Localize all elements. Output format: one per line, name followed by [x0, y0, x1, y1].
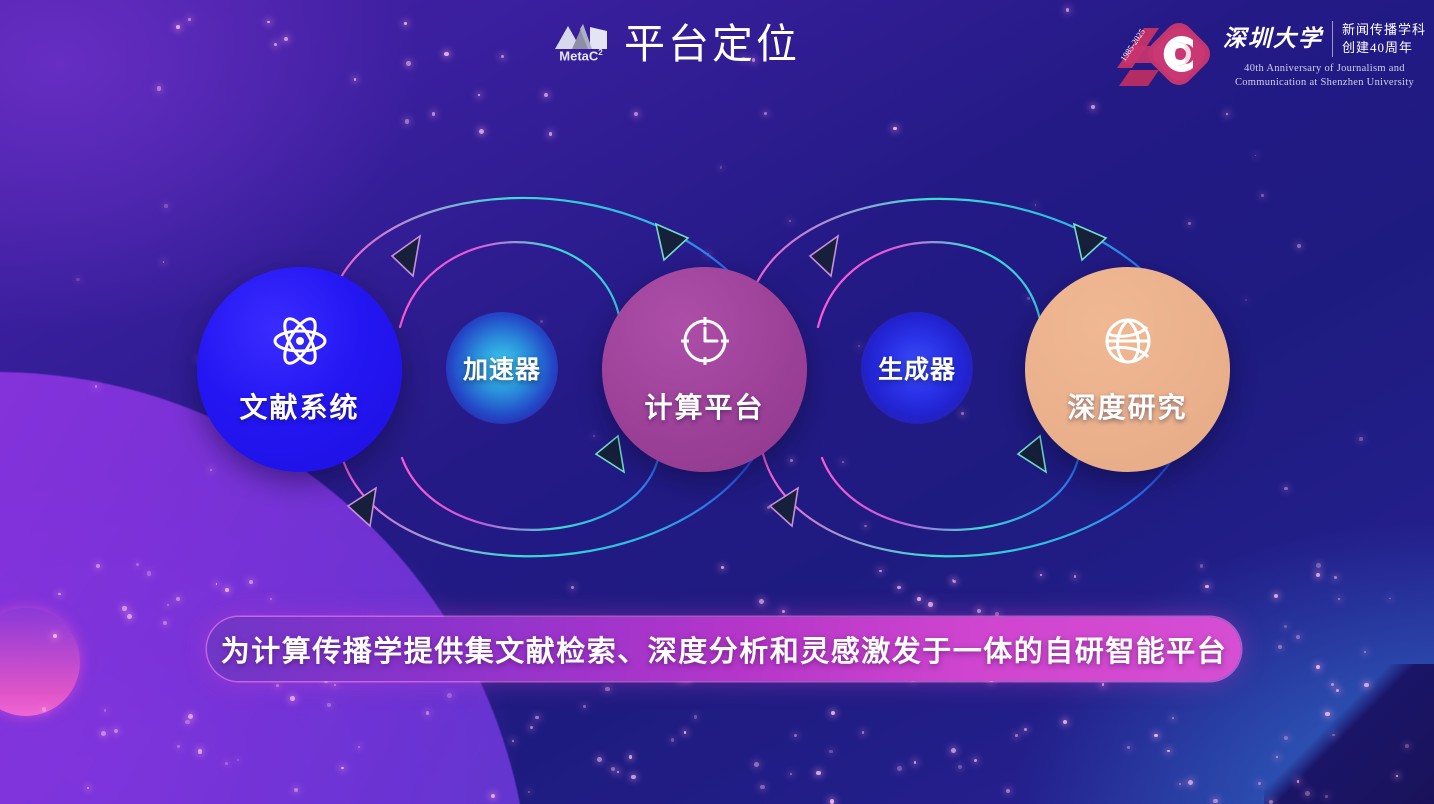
- star-dot: [53, 634, 57, 638]
- star-dot: [426, 711, 430, 715]
- node-accelerator[interactable]: 加速器: [446, 312, 558, 424]
- arrowhead-icon: [392, 236, 420, 276]
- atom-icon: [272, 313, 328, 374]
- star-dot: [671, 738, 675, 742]
- star-dot: [914, 761, 916, 763]
- star-dot: [1284, 736, 1288, 740]
- flow-diagram: 文献系统 加速器: [0, 120, 1434, 590]
- star-dot: [1063, 720, 1067, 724]
- star-dot: [1405, 744, 1409, 748]
- star-dot: [1364, 683, 1369, 688]
- star-dot: [830, 799, 835, 804]
- star-dot: [58, 593, 61, 596]
- star-dot: [1305, 791, 1310, 796]
- star-dot: [1167, 750, 1170, 753]
- star-dot: [977, 609, 981, 613]
- star-dot: [794, 734, 797, 737]
- university-en-line-1: 40th Anniversary of Journalism and: [1223, 62, 1426, 76]
- university-en-line-2: Communication at Shenzhen University: [1223, 76, 1426, 90]
- slide-canvas: MetaC2 平台定位: [0, 0, 1434, 804]
- page-title: 平台定位: [624, 24, 800, 69]
- star-dot: [1274, 594, 1278, 598]
- star-dot: [631, 775, 636, 780]
- star-dot: [101, 731, 106, 736]
- star-dot: [831, 711, 835, 715]
- star-dot: [782, 610, 786, 614]
- star-dot: [611, 767, 615, 771]
- star-dot: [535, 716, 539, 720]
- metac-wordmark: MetaC2: [552, 49, 610, 62]
- tagline-text: 为计算传播学提供集文献检索、深度分析和灵感激发于一体的自研智能平台: [221, 628, 1228, 670]
- star-dot: [1364, 651, 1367, 654]
- tagline-banner: 为计算传播学提供集文献检索、深度分析和灵感激发于一体的自研智能平台: [207, 617, 1241, 681]
- star-dot: [341, 767, 344, 770]
- pink-circle-shape: [0, 608, 80, 716]
- star-dot: [951, 748, 956, 753]
- title-group: MetaC2 平台定位: [552, 20, 800, 72]
- star-dot: [270, 598, 273, 601]
- arrowhead-icon: [810, 236, 838, 276]
- node-deep-research[interactable]: 深度研究: [1025, 267, 1230, 472]
- star-dot: [629, 755, 633, 759]
- star-dot: [1332, 734, 1335, 737]
- star-dot: [1284, 625, 1287, 628]
- star-dot: [294, 788, 298, 792]
- node-generator[interactable]: 生成器: [861, 312, 973, 424]
- anniversary-badge: 1985-2025: [1111, 16, 1215, 94]
- star-dot: [185, 720, 190, 725]
- star-dot: [605, 687, 609, 691]
- star-dot: [177, 745, 180, 748]
- star-dot: [995, 612, 999, 616]
- star-dot: [358, 746, 360, 748]
- university-name-cn: 深圳大学: [1223, 27, 1323, 51]
- star-dot: [1336, 689, 1339, 692]
- node-document-system[interactable]: 文献系统: [197, 267, 402, 472]
- star-dot: [1389, 598, 1391, 600]
- star-dot: [583, 705, 586, 708]
- star-dot: [1015, 734, 1018, 737]
- star-dot: [127, 614, 132, 619]
- arrowhead-icon: [1074, 224, 1106, 260]
- star-dot: [1258, 782, 1261, 785]
- star-dot: [1154, 734, 1157, 737]
- star-dot: [1024, 728, 1028, 732]
- star-dot: [829, 750, 833, 754]
- star-dot: [447, 693, 452, 698]
- star-dot: [1296, 635, 1300, 639]
- star-dot: [1276, 756, 1278, 758]
- star-dot: [122, 606, 127, 611]
- corner-triangle-shape: [1264, 664, 1434, 804]
- star-dot: [290, 696, 295, 701]
- anniversary-badge-icon: 1985-2025: [1111, 16, 1215, 94]
- star-dot: [432, 112, 436, 116]
- star-dot: [1179, 783, 1181, 785]
- university-name-en: 40th Anniversary of Journalism and Commu…: [1223, 62, 1426, 89]
- star-dot: [1316, 665, 1320, 669]
- star-dot: [1331, 683, 1334, 686]
- star-dot: [1213, 799, 1218, 804]
- star-dot: [759, 599, 764, 604]
- node-label: 深度研究: [1067, 386, 1187, 426]
- mountain-peaks-icon: [552, 20, 610, 50]
- star-dot: [1396, 775, 1399, 778]
- star-dot: [87, 787, 89, 789]
- star-dot: [528, 791, 531, 794]
- star-dot: [1127, 746, 1130, 749]
- star-dot: [760, 785, 765, 790]
- basketball-icon: [1100, 313, 1156, 374]
- star-dot: [684, 731, 687, 734]
- star-dot: [1338, 598, 1340, 600]
- node-compute-platform[interactable]: 计算平台: [602, 267, 807, 472]
- university-subtitle: 新闻传播学科 创建40周年: [1342, 21, 1426, 56]
- star-dot: [1269, 800, 1273, 804]
- metac-logo: MetaC2: [552, 20, 610, 72]
- star-dot: [862, 731, 865, 734]
- star-dot: [1006, 789, 1010, 793]
- star-dot: [617, 771, 619, 773]
- star-dot: [188, 714, 193, 719]
- star-dot: [530, 726, 533, 729]
- star-dot: [917, 597, 921, 601]
- university-logo: 1985-2025 深圳大学 新闻传播学科 创建40周年 40th Annive…: [1111, 16, 1426, 94]
- metac-wordmark-text: MetaC: [559, 48, 598, 63]
- star-dot: [1278, 645, 1282, 649]
- node-label: 文献系统: [239, 386, 359, 426]
- star-dot: [1172, 717, 1175, 720]
- metac-superscript: 2: [598, 48, 602, 57]
- star-dot: [816, 771, 820, 775]
- slide-header: MetaC2 平台定位: [0, 0, 1434, 110]
- star-dot: [334, 684, 336, 686]
- university-text-block: 深圳大学 新闻传播学科 创建40周年 40th Anniversary of J…: [1223, 21, 1426, 89]
- subtitle-line-2: 创建40周年: [1342, 39, 1426, 56]
- star-dot: [167, 604, 169, 606]
- star-dot: [491, 794, 495, 798]
- star-dot: [42, 707, 47, 712]
- node-label: 生成器: [878, 350, 956, 386]
- star-dot: [897, 766, 902, 771]
- star-dot: [198, 749, 203, 754]
- subtitle-line-1: 新闻传播学科: [1342, 21, 1426, 38]
- star-dot: [176, 597, 180, 601]
- star-dot: [790, 773, 792, 775]
- star-dot: [327, 703, 332, 708]
- vertical-divider: [1332, 21, 1333, 57]
- star-dot: [114, 729, 118, 733]
- star-dot: [694, 715, 698, 719]
- arrowhead-icon: [596, 436, 624, 472]
- node-label: 计算平台: [644, 386, 764, 426]
- star-dot: [1325, 712, 1330, 717]
- star-dot: [1297, 780, 1300, 783]
- star-dot: [1102, 683, 1105, 686]
- star-dot: [597, 757, 602, 762]
- star-dot: [225, 762, 228, 765]
- star-dot: [754, 762, 759, 767]
- star-dot: [1188, 780, 1193, 785]
- star-dot: [764, 112, 768, 116]
- star-dot: [928, 602, 933, 607]
- star-dot: [974, 759, 978, 763]
- node-label: 加速器: [463, 350, 541, 386]
- star-dot: [163, 621, 167, 625]
- star-dot: [958, 765, 962, 769]
- star-dot: [512, 740, 514, 742]
- star-dot: [237, 759, 239, 761]
- clock-icon: [677, 313, 733, 374]
- arrowhead-icon: [1018, 436, 1046, 472]
- star-dot: [1226, 113, 1228, 115]
- star-dot: [276, 684, 279, 687]
- arc-deep-to-compute-bottom: [822, 436, 1080, 530]
- star-dot: [634, 112, 638, 116]
- arrowhead-icon: [656, 224, 688, 260]
- university-name-row: 深圳大学 新闻传播学科 创建40周年: [1223, 21, 1426, 57]
- arc-compute-to-doc-bottom: [402, 436, 660, 530]
- star-dot: [1325, 795, 1328, 798]
- star-dot: [104, 709, 107, 712]
